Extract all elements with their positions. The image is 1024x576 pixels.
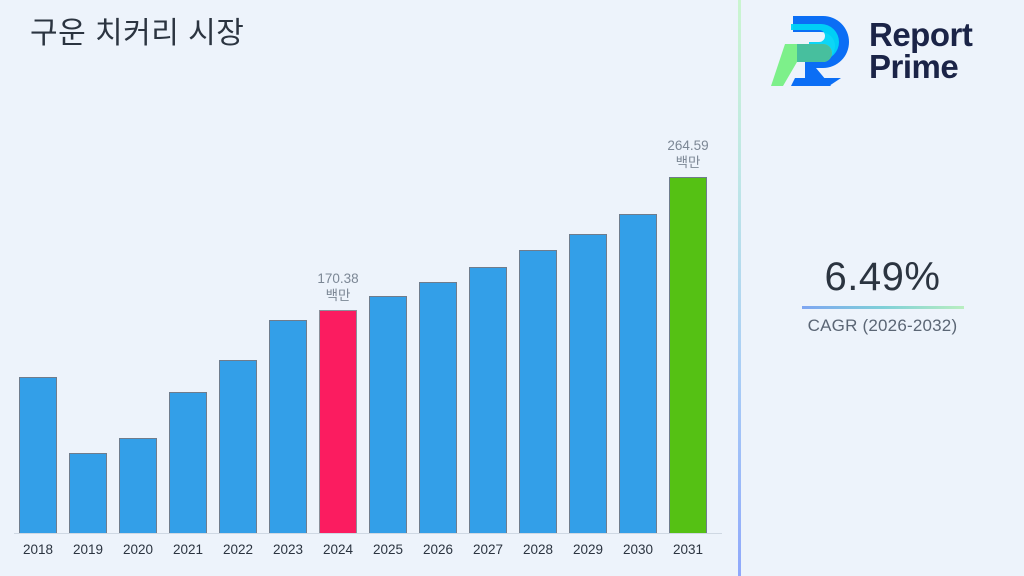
brand-logo: Report Prime bbox=[771, 10, 972, 92]
x-tick-2022: 2022 bbox=[213, 542, 263, 557]
bar-value-unit-2031: 백만 bbox=[667, 154, 708, 171]
chart-baseline bbox=[14, 533, 722, 534]
bar-series: 170.38백만264.59백만 bbox=[0, 110, 730, 533]
bar-2022[interactable] bbox=[219, 110, 257, 533]
x-tick-2031: 2031 bbox=[663, 542, 713, 557]
bar-rect-2021[interactable] bbox=[169, 392, 207, 533]
x-tick-2023: 2023 bbox=[263, 542, 313, 557]
bar-2024[interactable]: 170.38백만 bbox=[319, 110, 357, 533]
x-axis-tick-labels: 2018201920202021202220232024202520262027… bbox=[0, 542, 730, 566]
cagr-block: 6.49% CAGR (2026-2032) bbox=[741, 255, 1024, 336]
x-tick-2029: 2029 bbox=[563, 542, 613, 557]
bar-value-2024: 170.38 bbox=[317, 271, 358, 286]
bar-value-label-2031: 264.59백만 bbox=[667, 137, 708, 171]
bar-rect-2024[interactable] bbox=[319, 310, 357, 533]
brand-wordmark: Report Prime bbox=[869, 19, 972, 83]
brand-name-line2: Prime bbox=[869, 51, 972, 83]
bar-rect-2031[interactable] bbox=[669, 177, 707, 533]
x-tick-2018: 2018 bbox=[13, 542, 63, 557]
cagr-divider-rule bbox=[802, 306, 964, 309]
cagr-caption: CAGR (2026-2032) bbox=[741, 316, 1024, 336]
bar-rect-2018[interactable] bbox=[19, 377, 57, 533]
report-prime-monogram-icon bbox=[771, 10, 855, 92]
x-tick-2026: 2026 bbox=[413, 542, 463, 557]
bar-rect-2023[interactable] bbox=[269, 320, 307, 533]
bar-2026[interactable] bbox=[419, 110, 457, 533]
bar-2031[interactable]: 264.59백만 bbox=[669, 110, 707, 533]
x-tick-2024: 2024 bbox=[313, 542, 363, 557]
cagr-value: 6.49% bbox=[741, 255, 1024, 300]
x-tick-2019: 2019 bbox=[63, 542, 113, 557]
x-tick-2021: 2021 bbox=[163, 542, 213, 557]
x-tick-2020: 2020 bbox=[113, 542, 163, 557]
bar-2029[interactable] bbox=[569, 110, 607, 533]
x-tick-2030: 2030 bbox=[613, 542, 663, 557]
bar-value-label-2024: 170.38백만 bbox=[317, 270, 358, 304]
bar-value-unit-2024: 백만 bbox=[317, 287, 358, 304]
bar-2023[interactable] bbox=[269, 110, 307, 533]
page-title: 구운 치커리 시장 bbox=[30, 8, 244, 52]
bar-rect-2026[interactable] bbox=[419, 282, 457, 533]
bar-2019[interactable] bbox=[69, 110, 107, 533]
bar-rect-2028[interactable] bbox=[519, 250, 557, 533]
bar-rect-2022[interactable] bbox=[219, 360, 257, 533]
side-panel: Report Prime 6.49% CAGR (2026-2032) bbox=[741, 0, 1024, 576]
bar-chart-plot-area: 170.38백만264.59백만 bbox=[0, 110, 730, 535]
bar-value-2031: 264.59 bbox=[667, 138, 708, 153]
bar-2030[interactable] bbox=[619, 110, 657, 533]
x-tick-2027: 2027 bbox=[463, 542, 513, 557]
bar-rect-2027[interactable] bbox=[469, 267, 507, 533]
bar-2021[interactable] bbox=[169, 110, 207, 533]
bar-2027[interactable] bbox=[469, 110, 507, 533]
x-tick-2028: 2028 bbox=[513, 542, 563, 557]
bar-rect-2030[interactable] bbox=[619, 214, 657, 533]
bar-rect-2029[interactable] bbox=[569, 234, 607, 533]
bar-2025[interactable] bbox=[369, 110, 407, 533]
bar-rect-2019[interactable] bbox=[69, 453, 107, 533]
x-tick-2025: 2025 bbox=[363, 542, 413, 557]
bar-2018[interactable] bbox=[19, 110, 57, 533]
bar-rect-2020[interactable] bbox=[119, 438, 157, 533]
bar-rect-2025[interactable] bbox=[369, 296, 407, 533]
infographic-page: 구운 치커리 시장 170.38백만264.59백만 2018201920202… bbox=[0, 0, 1024, 576]
bar-2020[interactable] bbox=[119, 110, 157, 533]
bar-2028[interactable] bbox=[519, 110, 557, 533]
